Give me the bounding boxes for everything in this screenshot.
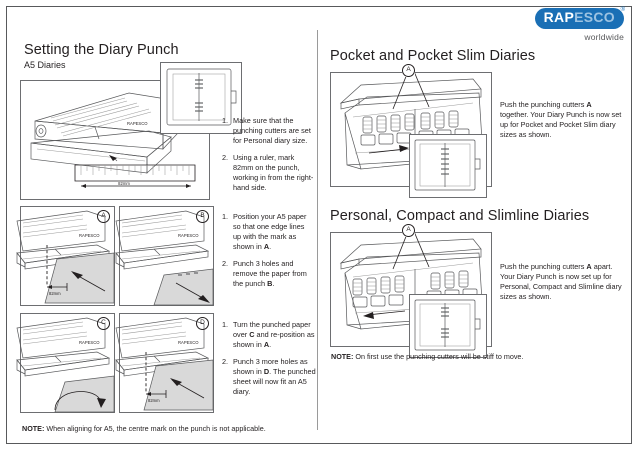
- list-item: 2. Using a ruler, mark 82mm on the punch…: [222, 153, 314, 193]
- instruction-text-part: together. Your Diary Punch is now set up…: [500, 110, 621, 139]
- section-title-pocket: Pocket and Pocket Slim Diaries: [330, 48, 535, 64]
- panel-d-body-logo: RAPESCO: [178, 340, 199, 345]
- step-text: Using a ruler, mark 82mm on the punch, w…: [233, 153, 314, 193]
- steps-group-2: 1. Position your A5 paper so that one ed…: [222, 212, 314, 296]
- step-number: 2.: [222, 259, 233, 289]
- left-footer-note: NOTE: When aligning for A5, the centre m…: [22, 424, 266, 433]
- step-number: 2.: [222, 153, 233, 193]
- section1-instruction: Push the punching cutters A together. Yo…: [500, 100, 622, 140]
- section-title-personal: Personal, Compact and Slimline Diaries: [330, 208, 589, 224]
- panel-a-body-logo: RAPESCO: [79, 233, 100, 238]
- instruction-ref-bold: A: [586, 100, 591, 109]
- note-text: When aligning for A5, the centre mark on…: [44, 424, 265, 433]
- instruction-text-part: Push the punching cutters: [500, 262, 586, 271]
- logo-text-esco: ESCO: [574, 9, 615, 25]
- panel-label-c: C: [97, 317, 110, 330]
- callout-label-a-bottom: A: [402, 224, 415, 237]
- step-text: Make sure that the punching cutters are …: [233, 116, 314, 146]
- panel-label-b: B: [196, 210, 209, 223]
- diagram-panel-b: RAPESCO B: [119, 206, 214, 306]
- list-item: 2. Punch 3 holes and remove the paper fr…: [222, 259, 314, 289]
- steps-group-3: 1. Turn the punched paper over C and re-…: [222, 320, 318, 404]
- registered-mark-icon: ®: [621, 7, 625, 13]
- panel-label-d: D: [196, 317, 209, 330]
- callout-label-a-top: A: [402, 64, 415, 77]
- step-text-part: .: [272, 279, 274, 288]
- brand-logo: RAPESCO ® worldwide: [535, 8, 624, 42]
- instruction-text-part: Push the punching cutters: [500, 100, 586, 109]
- logo-tagline: worldwide: [535, 32, 624, 42]
- section2-instruction: Push the punching cutters A apart. Your …: [500, 262, 622, 302]
- panel-c-body-logo: RAPESCO: [79, 340, 100, 345]
- note-text: On first use the punching cutters will b…: [353, 352, 523, 361]
- step-text-part: .: [269, 242, 271, 251]
- punch-body-logo: RAPESCO: [127, 121, 148, 126]
- pocket-diary-drawing: [410, 135, 486, 197]
- diagram-panel-c: RAPESCO C: [20, 313, 115, 413]
- note-label: NOTE:: [331, 352, 353, 361]
- list-item: 1. Position your A5 paper so that one ed…: [222, 212, 314, 252]
- panel-b-body-logo: RAPESCO: [178, 233, 199, 238]
- step-text: Punch 3 holes and remove the paper from …: [233, 259, 314, 289]
- step-text: Position your A5 paper so that one edge …: [233, 212, 314, 252]
- step-text: Punch 3 more holes as shown in D. The pu…: [233, 357, 318, 397]
- list-item: 2. Punch 3 more holes as shown in D. The…: [222, 357, 318, 397]
- diagram-panel-d: RAPESCO 82mm D: [119, 313, 214, 413]
- ruler-measure-label: 82mm: [118, 181, 130, 186]
- diagram-diary-pocket-thumb: [409, 134, 487, 198]
- page-subtitle: A5 Diaries: [24, 60, 179, 70]
- list-item: 1. Turn the punched paper over C and re-…: [222, 320, 318, 350]
- manual-page: RAPESCO ® worldwide Setting the Diary Pu…: [0, 0, 638, 450]
- panel-d-dimension-label: 82mm: [148, 398, 160, 403]
- logo-pill: RAPESCO ®: [535, 8, 624, 29]
- step-number: 2.: [222, 357, 233, 397]
- personal-diary-drawing: [410, 295, 486, 357]
- panel-label-a: A: [97, 210, 110, 223]
- logo-text-rap: RAP: [544, 9, 574, 25]
- panel-a-dimension-label: 82mm: [49, 291, 61, 296]
- step-text-part: .: [269, 340, 271, 349]
- note-label: NOTE:: [22, 424, 44, 433]
- page-title: Setting the Diary Punch: [24, 42, 179, 58]
- steps-group-1: 1. Make sure that the punching cutters a…: [222, 116, 314, 200]
- step-number: 1.: [222, 212, 233, 252]
- step-text: Turn the punched paper over C and re-pos…: [233, 320, 318, 350]
- diagram-diary-personal-thumb: [409, 294, 487, 358]
- step-number: 1.: [222, 116, 233, 146]
- left-title: Setting the Diary Punch A5 Diaries: [24, 42, 179, 70]
- step-number: 1.: [222, 320, 233, 350]
- list-item: 1. Make sure that the punching cutters a…: [222, 116, 314, 146]
- diagram-panel-a: RAPESCO 82mm A: [20, 206, 115, 306]
- right-footer-note: NOTE: On first use the punching cutters …: [331, 352, 523, 361]
